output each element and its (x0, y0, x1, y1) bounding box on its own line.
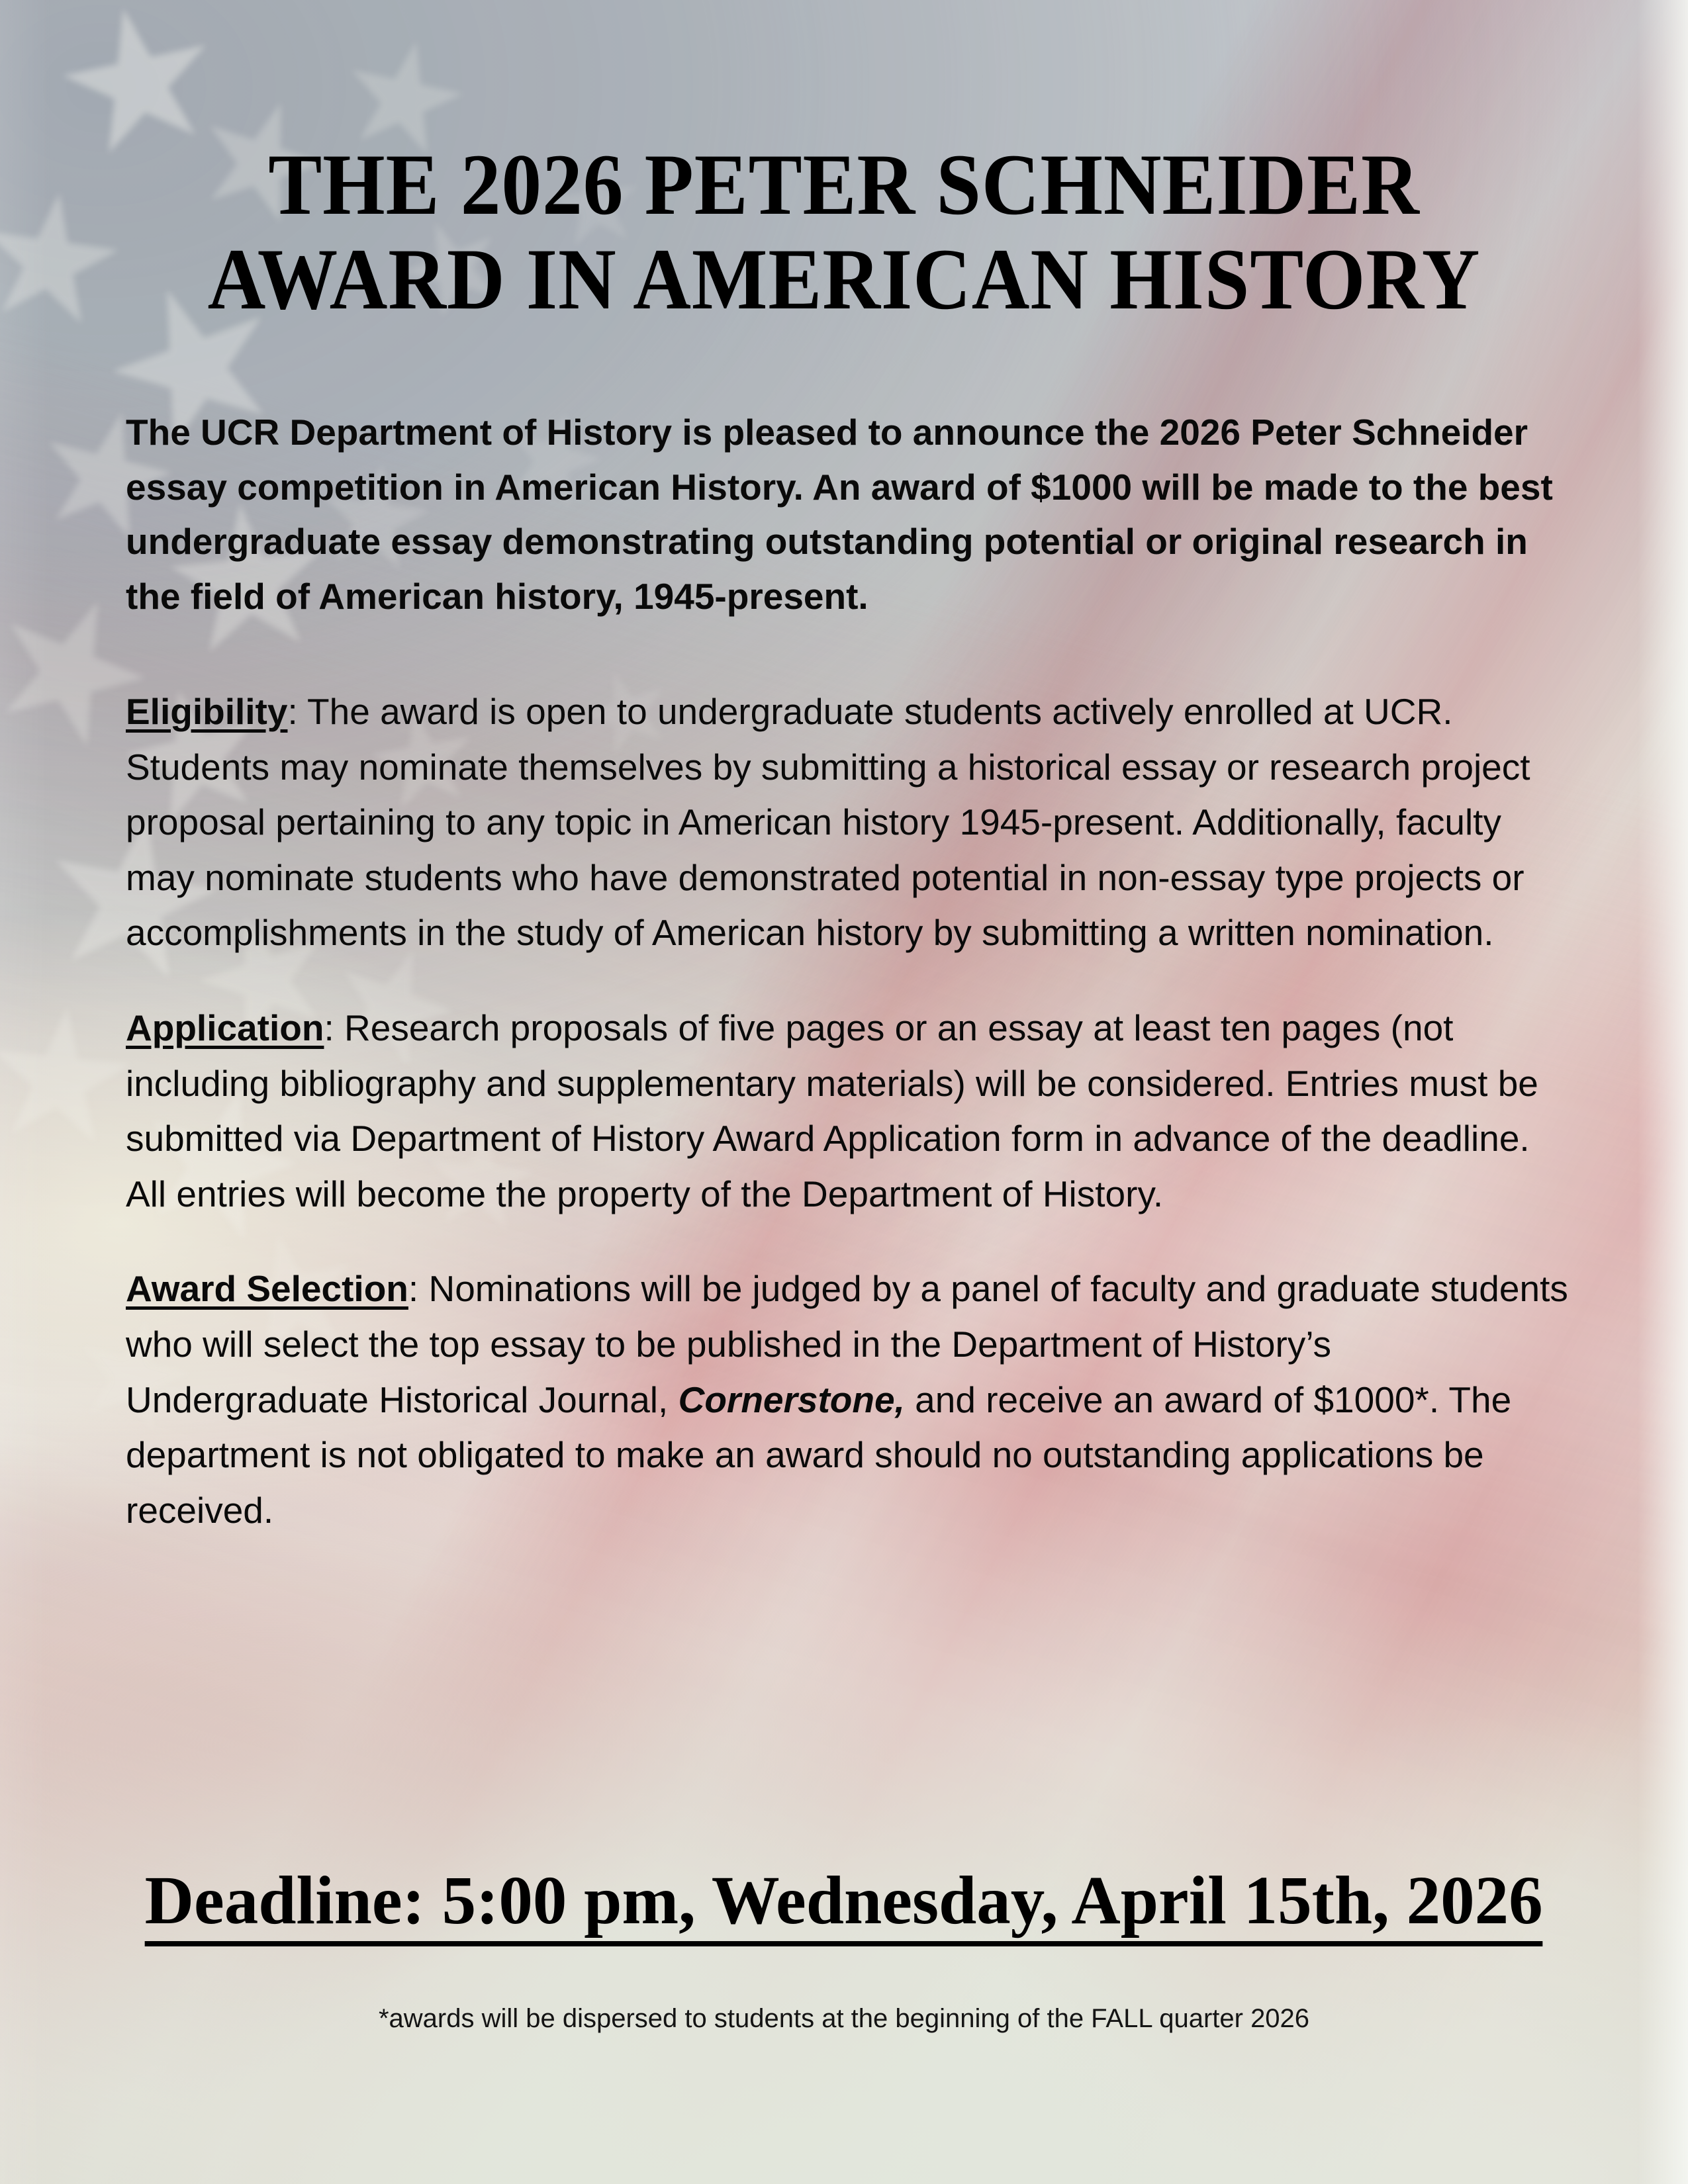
deadline-text: Deadline: 5:00 pm, Wednesday, April 15th… (145, 1863, 1543, 1946)
page-title-line-2: AWARD IN AMERICAN HISTORY (68, 232, 1620, 327)
page-title: THE 2026 PETER SCHNEIDER AWARD IN AMERIC… (68, 138, 1620, 326)
intro-paragraph: The UCR Department of History is pleased… (126, 405, 1575, 623)
application-text: Research proposals of five pages or an e… (126, 1007, 1538, 1214)
eligibility-heading: Eligibility (126, 691, 287, 732)
deadline-banner: Deadline: 5:00 pm, Wednesday, April 15th… (0, 1863, 1688, 1946)
flyer-body: The UCR Department of History is pleased… (126, 405, 1575, 1578)
flyer-page: THE 2026 PETER SCHNEIDER AWARD IN AMERIC… (0, 0, 1688, 2184)
page-title-line-1: THE 2026 PETER SCHNEIDER (68, 138, 1620, 232)
journal-title: Cornerstone, (679, 1379, 905, 1420)
award-selection-heading: Award Selection (126, 1268, 408, 1309)
eligibility-paragraph: Eligibility: The award is open to underg… (126, 684, 1575, 961)
application-paragraph: Application: Research proposals of five … (126, 1001, 1575, 1222)
eligibility-separator: : (287, 691, 297, 732)
application-separator: : (324, 1007, 334, 1048)
award-selection-paragraph: Award Selection: Nominations will be jud… (126, 1261, 1575, 1538)
application-heading: Application (126, 1007, 324, 1048)
eligibility-text: The award is open to undergraduate stude… (126, 691, 1530, 953)
award-selection-separator: : (408, 1268, 418, 1309)
footnote: *awards will be dispersed to students at… (0, 2004, 1688, 2034)
